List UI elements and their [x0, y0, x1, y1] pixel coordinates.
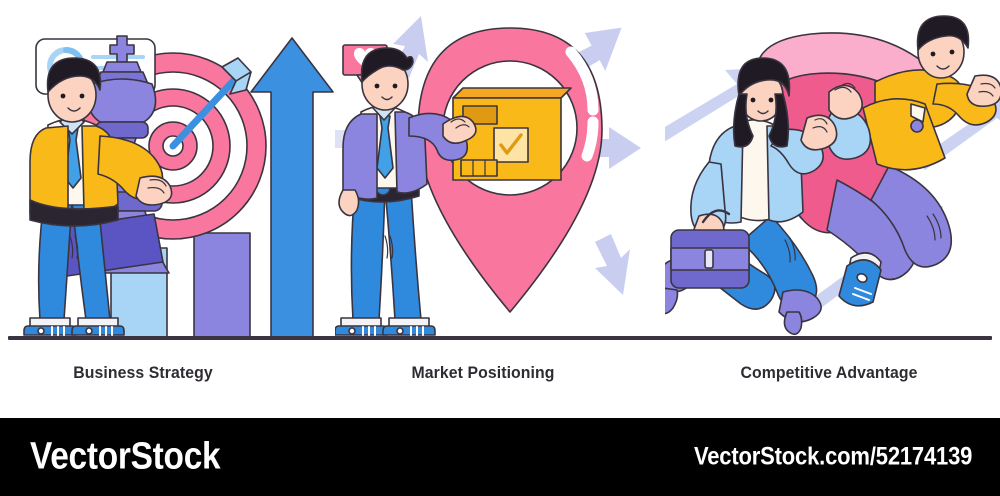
vectorstock-logo: VectorStock — [30, 436, 220, 479]
arrow-down-right-icon — [595, 234, 630, 295]
shoe-right-2 — [383, 318, 435, 335]
checkmark-label — [494, 128, 528, 162]
watermark-footer: VectorStock VectorStock.com/52174139 — [0, 418, 1000, 496]
shoe-left — [24, 318, 76, 335]
caption-competitive-advantage: Competitive Advantage — [670, 363, 988, 383]
caption-row: Business Strategy Market Positioning Com… — [0, 356, 1000, 390]
shoe-right — [72, 318, 124, 335]
heel-right — [779, 290, 821, 334]
box-slots — [461, 160, 497, 176]
caption-market-positioning: Market Positioning — [324, 363, 642, 383]
scene-competitive-advantage — [665, 0, 1000, 345]
flying-shoe — [839, 253, 881, 306]
ground-line — [8, 336, 992, 340]
shoe-left-2 — [335, 318, 387, 335]
caption-business-strategy: Business Strategy — [0, 363, 302, 383]
scene-business-strategy — [0, 0, 335, 345]
bar-2 — [194, 233, 250, 338]
illustration-canvas: Business Strategy Market Positioning Com… — [0, 0, 1000, 496]
vectorstock-url: VectorStock.com/52174139 — [694, 443, 972, 472]
growth-arrow-up-icon — [251, 38, 333, 338]
scene-market-positioning — [335, 0, 665, 345]
illustration-area — [0, 0, 1000, 345]
